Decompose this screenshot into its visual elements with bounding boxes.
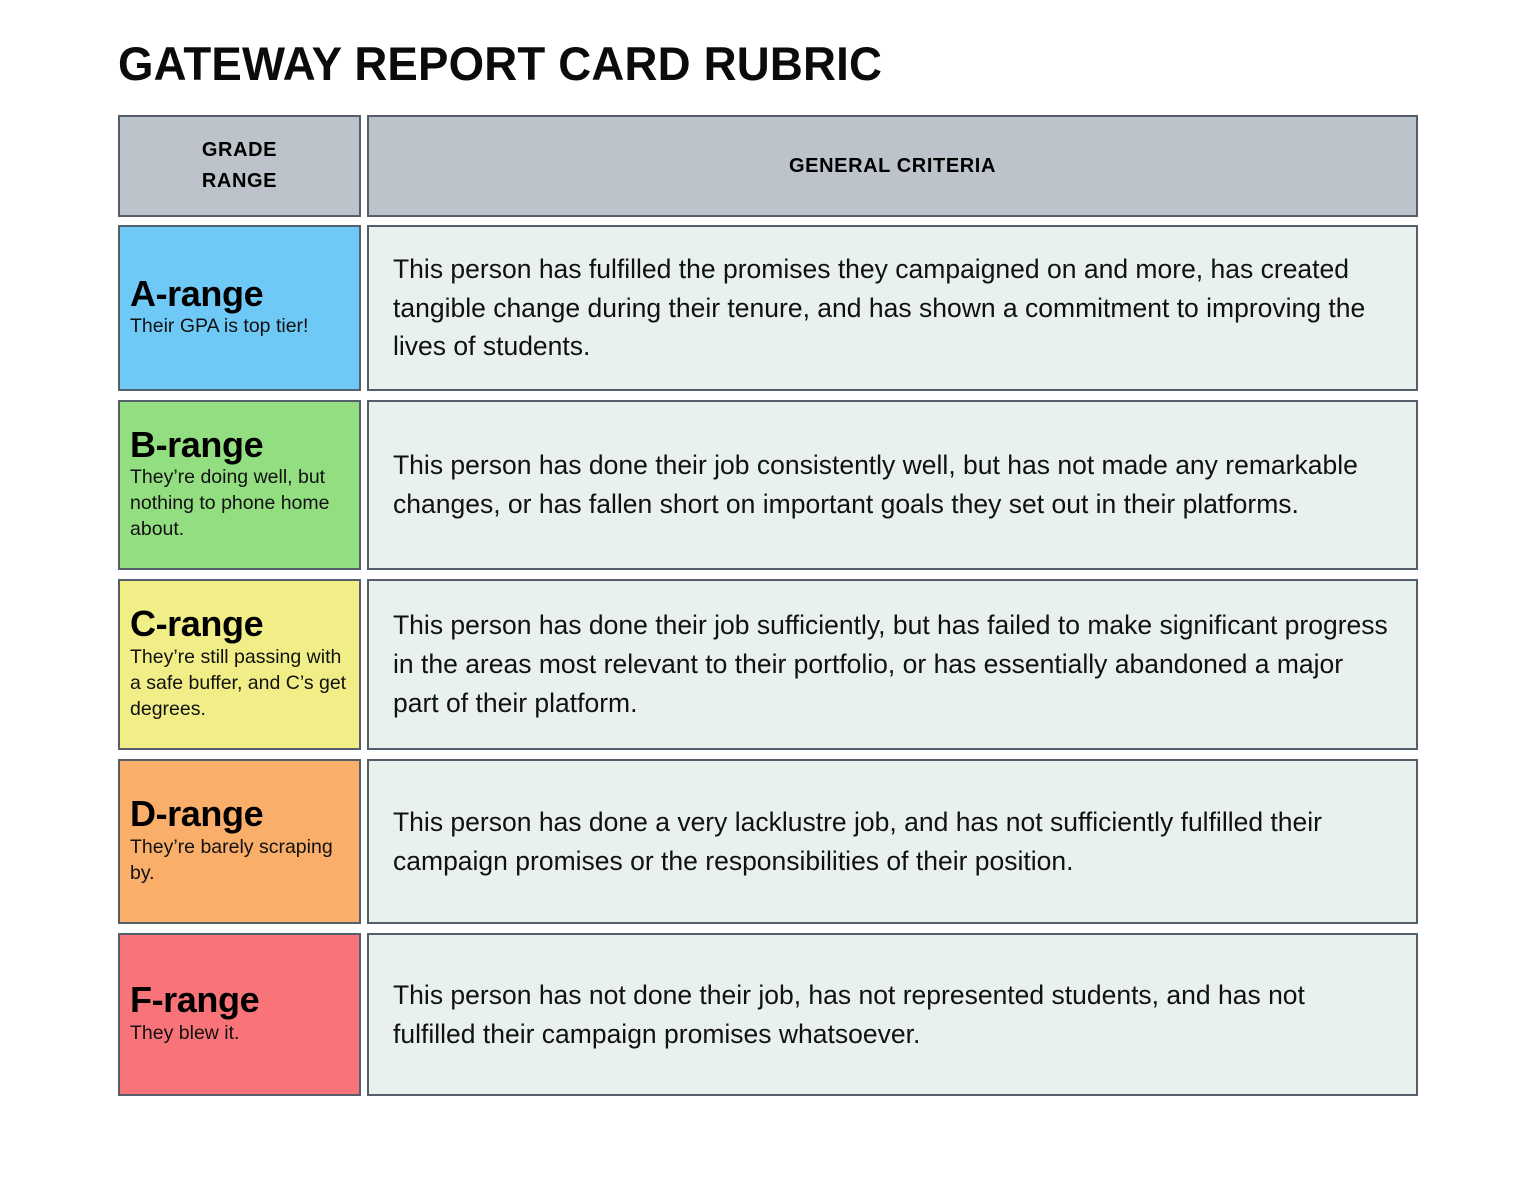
rubric-page: GATEWAY REPORT CARD RUBRIC GRADE RANGE G… [0, 0, 1536, 1187]
grade-label-c: C-range [130, 606, 349, 643]
grade-cell-f: F-range They blew it. [118, 933, 361, 1096]
table-row: C-range They’re still passing with a saf… [118, 579, 1418, 750]
criteria-text-d: This person has done a very lacklustre j… [393, 803, 1390, 881]
grade-note-d: They’re barely scraping by. [130, 835, 349, 887]
criteria-cell-d: This person has done a very lacklustre j… [367, 759, 1418, 924]
criteria-cell-b: This person has done their job consisten… [367, 400, 1418, 570]
grade-cell-a: A-range Their GPA is top tier! [118, 225, 361, 391]
criteria-cell-c: This person has done their job sufficien… [367, 579, 1418, 750]
header-grade-line1: GRADE [202, 135, 277, 166]
grade-note-c: They’re still passing with a safe buffer… [130, 645, 349, 723]
grade-label-a: A-range [130, 276, 349, 313]
header-general-criteria: GENERAL CRITERIA [367, 115, 1418, 217]
grade-cell-b: B-range They’re doing well, but nothing … [118, 400, 361, 570]
grade-label-b: B-range [130, 427, 349, 464]
page-title: GATEWAY REPORT CARD RUBRIC [118, 36, 882, 91]
criteria-cell-a: This person has fulfilled the promises t… [367, 225, 1418, 391]
grade-note-a: Their GPA is top tier! [130, 314, 349, 340]
grade-cell-d: D-range They’re barely scraping by. [118, 759, 361, 924]
table-header-row: GRADE RANGE GENERAL CRITERIA [118, 115, 1418, 217]
criteria-text-a: This person has fulfilled the promises t… [393, 250, 1390, 367]
criteria-cell-f: This person has not done their job, has … [367, 933, 1418, 1096]
grade-label-f: F-range [130, 982, 349, 1019]
criteria-text-c: This person has done their job sufficien… [393, 606, 1390, 723]
grade-note-f: They blew it. [130, 1021, 349, 1047]
table-row: A-range Their GPA is top tier! This pers… [118, 225, 1418, 391]
header-grade-line2: RANGE [202, 166, 277, 197]
criteria-text-f: This person has not done their job, has … [393, 976, 1390, 1054]
grade-label-d: D-range [130, 796, 349, 833]
grade-note-b: They’re doing well, but nothing to phone… [130, 465, 349, 543]
header-grade-range: GRADE RANGE [118, 115, 361, 217]
table-row: F-range They blew it. This person has no… [118, 933, 1418, 1096]
rubric-table: GRADE RANGE GENERAL CRITERIA A-range The… [118, 115, 1418, 1105]
table-row: D-range They’re barely scraping by. This… [118, 759, 1418, 924]
table-row: B-range They’re doing well, but nothing … [118, 400, 1418, 570]
grade-cell-c: C-range They’re still passing with a saf… [118, 579, 361, 750]
criteria-text-b: This person has done their job consisten… [393, 446, 1390, 524]
